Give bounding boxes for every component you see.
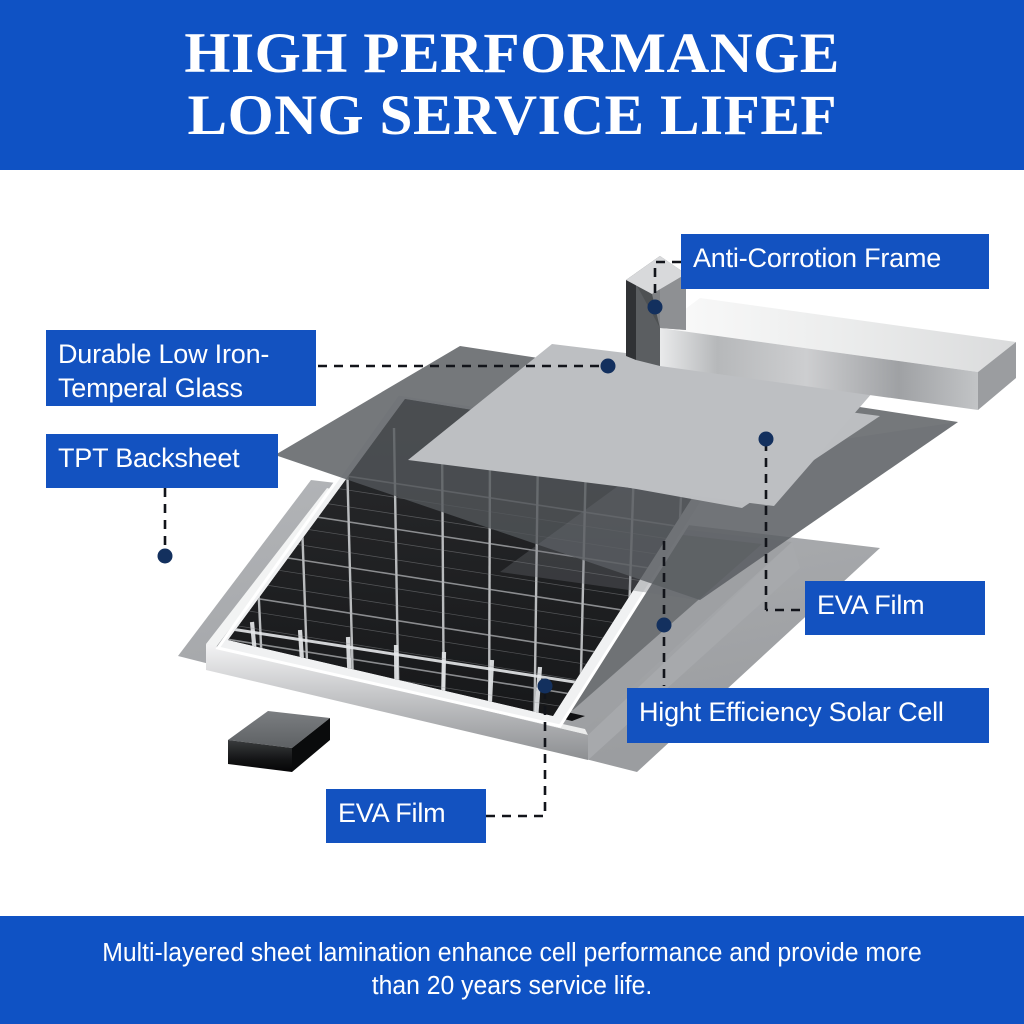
- header-banner: HIGH PERFORMANGE LONG SERVICE LIFEF: [0, 0, 1024, 170]
- leader-dot-eva-right: [759, 432, 774, 447]
- header-title-line-1: HIGH PERFORMANGE: [184, 26, 839, 82]
- leader-dot-glass: [601, 359, 616, 374]
- footer-banner: Multi-layered sheet lamination enhance c…: [0, 916, 1024, 1024]
- callout-anti-corrosion-frame[interactable]: Anti-Corrotion Frame: [681, 234, 989, 289]
- junction-box: [228, 711, 330, 772]
- product-infographic: HIGH PERFORMANGE LONG SERVICE LIFEF: [0, 0, 1024, 1024]
- footer-description: Multi-layered sheet lamination enhance c…: [85, 937, 939, 1003]
- callout-tpt-backsheet[interactable]: TPT Backsheet: [46, 434, 278, 488]
- callout-solar-cell[interactable]: Hight Efficiency Solar Cell: [627, 688, 989, 743]
- header-title-line-2: LONG SERVICE LIFEF: [187, 88, 837, 144]
- callout-eva-film-upper[interactable]: EVA Film: [805, 581, 985, 635]
- leader-dot-tpt: [158, 549, 173, 564]
- callout-eva-film-lower[interactable]: EVA Film: [326, 789, 486, 843]
- leader-dot-eva-bottom: [538, 679, 553, 694]
- leader-dot-cell: [657, 618, 672, 633]
- leader-dot-frame: [648, 300, 663, 315]
- callout-tempered-glass[interactable]: Durable Low Iron- Temperal Glass: [46, 330, 316, 406]
